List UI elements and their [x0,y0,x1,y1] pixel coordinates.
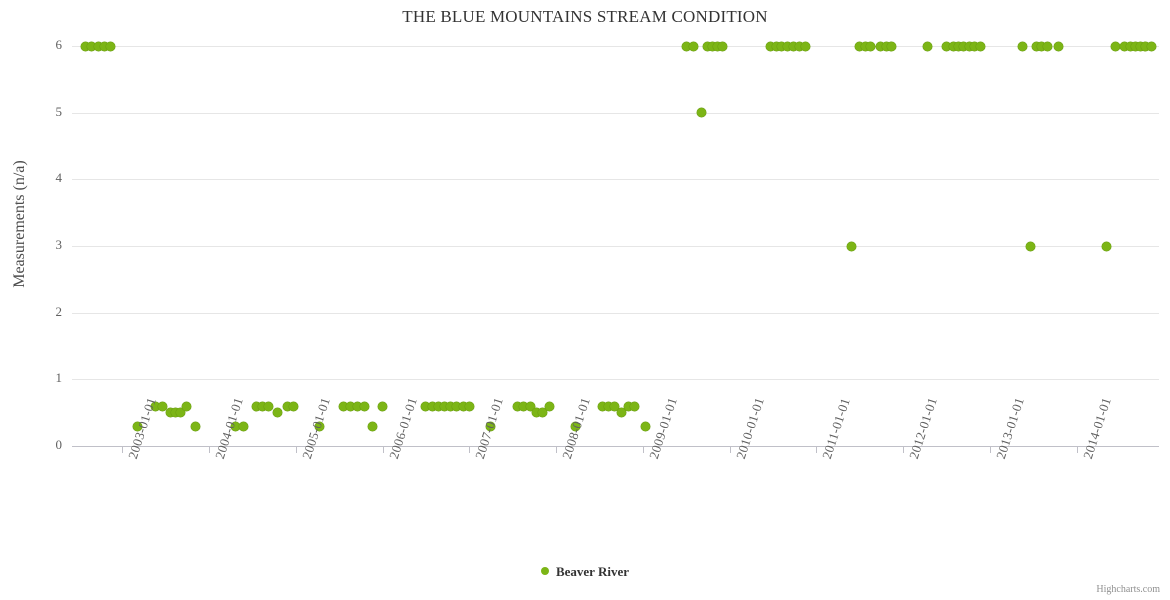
x-axis-tick-mark [643,447,644,453]
highcharts-credits[interactable]: Highcharts.com [1096,584,1160,595]
y-axis-tick-label: 6 [2,37,62,53]
data-point[interactable] [264,402,273,411]
x-axis-tick-mark [469,447,470,453]
x-axis-tick-mark [296,447,297,453]
data-point[interactable] [289,402,298,411]
plot-area[interactable] [72,46,1159,446]
data-point[interactable] [923,42,932,51]
y-axis-tick-label: 4 [2,170,62,186]
chart-legend[interactable]: Beaver River [0,563,1170,580]
data-point[interactable] [976,42,985,51]
x-axis-tick-mark [816,447,817,453]
x-axis-tick-mark [122,447,123,453]
data-point[interactable] [1102,242,1111,251]
y-gridline [72,179,1159,180]
x-axis-tick-mark [556,447,557,453]
x-axis-tick-mark [1077,447,1078,453]
data-point[interactable] [697,108,706,117]
x-axis-tick-mark [903,447,904,453]
x-axis-tick-mark [730,447,731,453]
y-gridline [72,379,1159,380]
legend-item-beaver-river[interactable]: Beaver River [556,564,629,579]
data-point[interactable] [801,42,810,51]
data-point[interactable] [465,402,474,411]
data-point[interactable] [866,42,875,51]
y-axis-tick-label: 5 [2,104,62,120]
data-point[interactable] [368,422,377,431]
y-axis-tick-label: 2 [2,304,62,320]
x-axis-tick-mark [383,447,384,453]
data-point[interactable] [689,42,698,51]
data-point[interactable] [718,42,727,51]
y-gridline [72,246,1159,247]
y-gridline [72,113,1159,114]
data-point[interactable] [1026,242,1035,251]
data-point[interactable] [887,42,896,51]
data-point[interactable] [630,402,639,411]
data-point[interactable] [545,402,554,411]
data-point[interactable] [1043,42,1052,51]
data-point[interactable] [106,42,115,51]
data-point[interactable] [641,422,650,431]
data-point[interactable] [1054,42,1063,51]
data-point[interactable] [239,422,248,431]
data-point[interactable] [1018,42,1027,51]
x-axis-tick-mark [209,447,210,453]
data-point[interactable] [182,402,191,411]
y-axis-tick-label: 3 [2,237,62,253]
data-point[interactable] [378,402,387,411]
highcharts-scatter-chart: THE BLUE MOUNTAINS STREAM CONDITION Meas… [0,0,1170,600]
chart-title: THE BLUE MOUNTAINS STREAM CONDITION [0,7,1170,27]
data-point[interactable] [1111,42,1120,51]
y-gridline [72,313,1159,314]
legend-marker-icon [541,567,549,575]
y-axis-tick-label: 0 [2,437,62,453]
y-axis-tick-labels: 0123456 [0,46,62,446]
data-point[interactable] [360,402,369,411]
y-gridline [72,46,1159,47]
x-axis-tick-mark [990,447,991,453]
y-axis-tick-label: 1 [2,370,62,386]
data-point[interactable] [847,242,856,251]
data-point[interactable] [191,422,200,431]
data-point[interactable] [273,408,282,417]
data-point[interactable] [1147,42,1156,51]
